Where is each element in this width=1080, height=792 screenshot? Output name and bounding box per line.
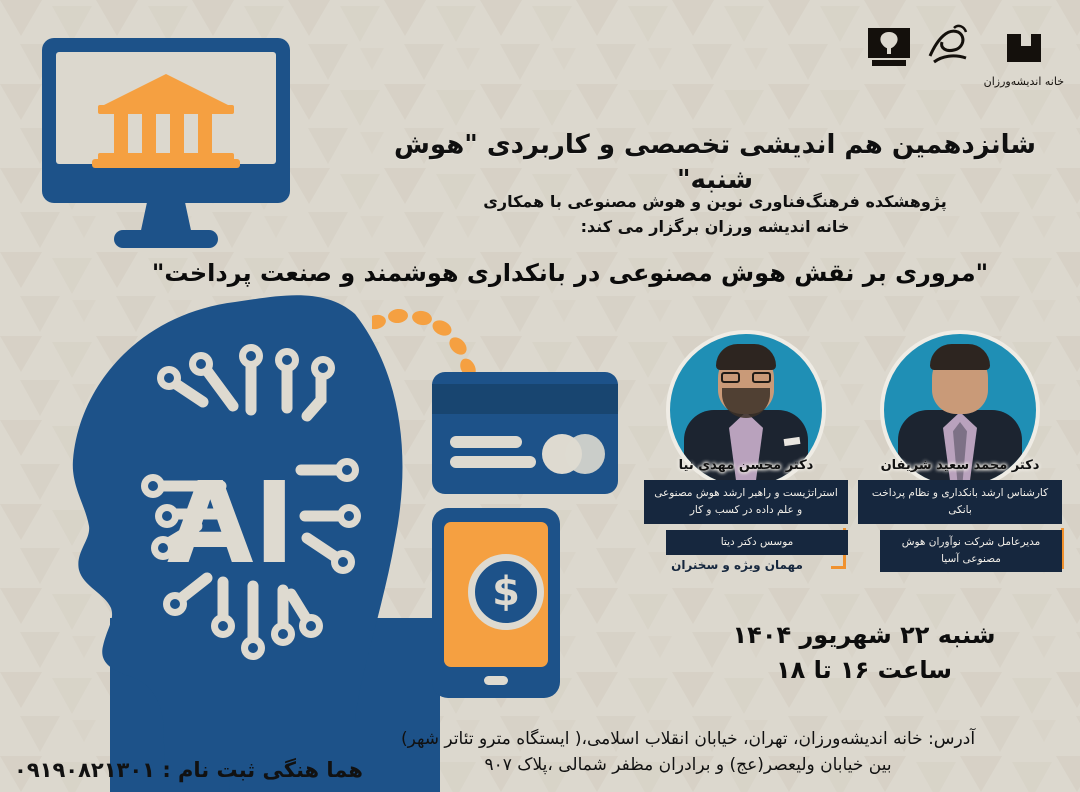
monitor-screen xyxy=(56,52,276,164)
event-date: شنبه ۲۲ شهریور ۱۴۰۴ xyxy=(674,618,1054,653)
speaker-card-mohsen-mahdinia: دکتر محسن مهدی نیا استراتژیست و راهبر ار… xyxy=(648,330,844,575)
credit-card-icon xyxy=(432,372,618,494)
address-line-1: آدرس: خانه اندیشه‌ورزان، تهران، خیابان ا… xyxy=(318,726,1058,752)
svg-text:AI: AI xyxy=(167,459,295,589)
dollar-coin-icon: $ xyxy=(468,554,544,630)
speaker-role: کارشناس ارشد بانکداری و نظام پرداخت بانک… xyxy=(858,480,1062,524)
speaker-card-mohammad-saeed-sharifan: دکتر محمد سعید شریفان کارشناس ارشد بانکد… xyxy=(862,330,1058,575)
stylized-he-letter-icon xyxy=(999,22,1049,70)
registration-contact: هما هنگی ثبت نام : ۰۹۱۹۰۸۲۱۳۰۱ xyxy=(14,758,363,782)
subhead-line-2: خانه اندیشه ورزان برگزار می کند: xyxy=(370,215,1060,240)
event-time: ساعت ۱۶ تا ۱۸ xyxy=(674,653,1054,688)
monitor-body xyxy=(42,38,290,203)
speaker-org: مدیرعامل شرکت نوآوران هوش مصنوعی آسیا xyxy=(880,530,1062,572)
logo-pazhuheshgah xyxy=(864,22,914,75)
registration-phone: ۰۹۱۹۰۸۲۱۳۰۱ xyxy=(14,758,155,782)
speaker-name: دکتر محسن مهدی نیا xyxy=(648,458,844,473)
speaker-name: دکتر محمد سعید شریفان xyxy=(862,458,1058,473)
calligraphic-seal-icon xyxy=(924,22,974,70)
mobile-payment-icon: $ xyxy=(432,508,560,698)
subhead-line-1: پژوهشکده فرهنگ‌فناوری نوین و هوش مصنوعی … xyxy=(370,190,1060,215)
logo-farhang-melal xyxy=(924,22,974,75)
poster-headline: شانزدهمین هم اندیشی تخصصی و کاربردی "هوش… xyxy=(370,128,1060,198)
event-datetime: شنبه ۲۲ شهریور ۱۴۰۴ ساعت ۱۶ تا ۱۸ xyxy=(674,618,1054,688)
speaker-list: دکتر محسن مهدی نیا استراتژیست و راهبر ار… xyxy=(642,330,1072,575)
logo-caption: خانه اندیشه‌ورزان xyxy=(984,75,1064,88)
monitor-illustration xyxy=(42,38,290,250)
poster-subhead: پژوهشکده فرهنگ‌فناوری نوین و هوش مصنوعی … xyxy=(370,190,1060,240)
registration-label: هما هنگی ثبت نام : xyxy=(162,758,363,782)
bank-building-icon xyxy=(94,74,238,166)
speaker-role: استراتژیست و راهبر ارشد هوش مصنوعی و علم… xyxy=(644,480,848,524)
speaker-org: موسس دکتر دیتا xyxy=(666,530,848,555)
address-line-2: بین خیابان ولیعصر(عج) و برادران مظفر شما… xyxy=(318,752,1058,778)
logo-khaneh-andishevarzan: خانه اندیشه‌ورزان xyxy=(984,22,1064,88)
speaker-tag: مهمان ویژه و سخنران xyxy=(648,558,826,572)
poster-canvas: AI xyxy=(0,0,1080,792)
logo-row: خانه اندیشه‌ورزان xyxy=(864,22,1064,88)
ai-circuit-head-icon: AI xyxy=(55,290,415,770)
monitor-base xyxy=(114,230,218,248)
event-main-title: "مروری بر نقش هوش مصنوعی در بانکداری هوش… xyxy=(70,258,1070,289)
event-address: آدرس: خانه اندیشه‌ورزان، تهران، خیابان ا… xyxy=(318,726,1058,779)
open-book-mark-icon xyxy=(864,22,914,70)
